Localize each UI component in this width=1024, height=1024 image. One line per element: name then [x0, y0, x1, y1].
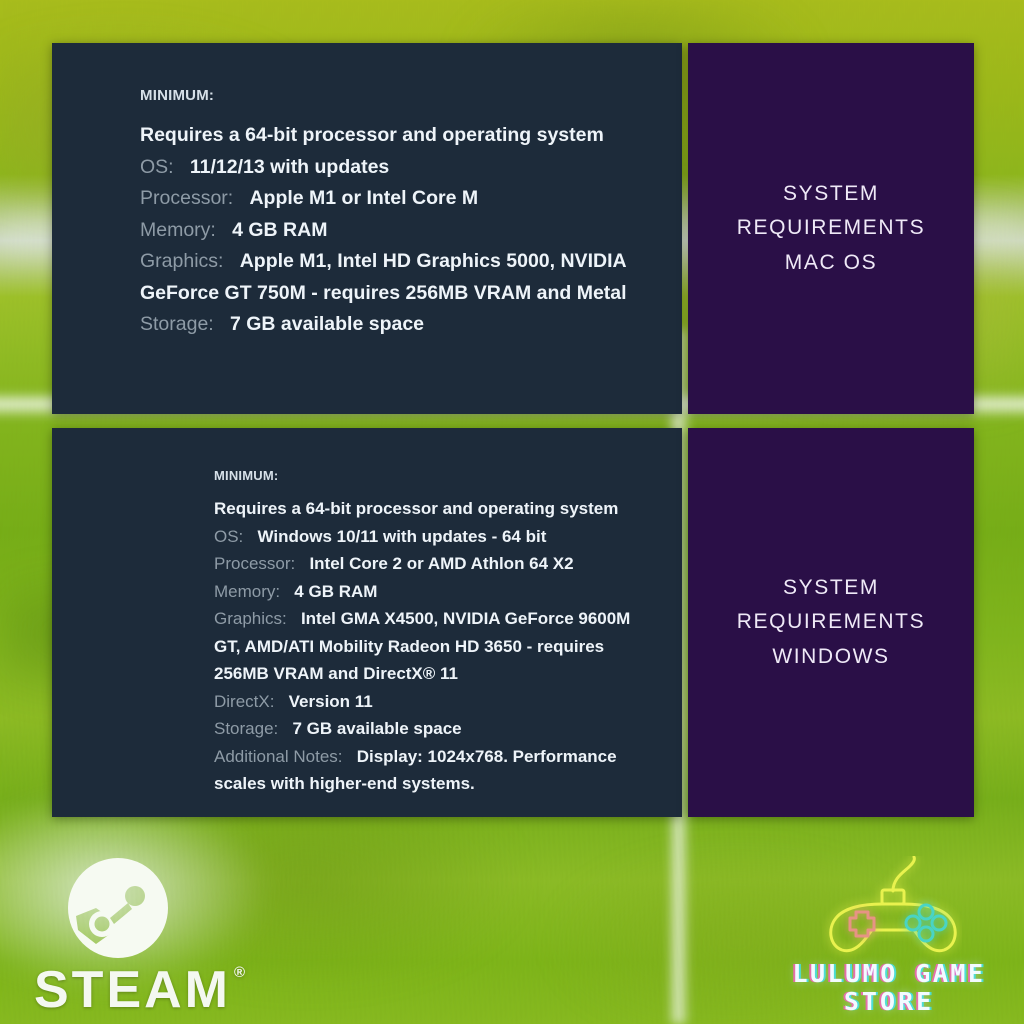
- windows-specs-heading: MINIMUM:: [214, 468, 658, 483]
- mac-spec-value-os: 11/12/13 with updates: [190, 156, 389, 178]
- windows-spec-label-os: OS:: [214, 527, 253, 546]
- mac-label-panel: SYSTEM REQUIREMENTS MAC OS: [688, 43, 974, 414]
- windows-spec-row-os: OS: Windows 10/11 with updates - 64 bit: [214, 523, 658, 551]
- windows-specs-panel: MINIMUM: Requires a 64-bit processor and…: [52, 428, 682, 817]
- mac-label-text: SYSTEM REQUIREMENTS MAC OS: [737, 177, 925, 279]
- windows-specs-intro-text: Requires a 64-bit processor and operatin…: [214, 499, 618, 518]
- steam-wordmark-text: STEAM: [34, 960, 231, 1020]
- windows-spec-row-memory: Memory: 4 GB RAM: [214, 578, 658, 606]
- mac-spec-row-processor: Processor: Apple M1 or Intel Core M: [140, 183, 658, 215]
- windows-spec-label-notes: Additional Notes:: [214, 747, 352, 766]
- lulumo-wordmark-line1: LULUMO GAME: [760, 960, 1018, 988]
- lulumo-logo: LULUMO GAME STORE: [760, 856, 1018, 1014]
- windows-spec-value-os: Windows 10/11 with updates - 64 bit: [257, 527, 546, 546]
- windows-label-line1: SYSTEM: [737, 571, 925, 605]
- mac-spec-row-os: OS: 11/12/13 with updates: [140, 152, 658, 184]
- steam-logo-icon: [66, 856, 170, 960]
- mac-spec-value-memory: 4 GB RAM: [232, 219, 327, 241]
- windows-spec-row-storage: Storage: 7 GB available space: [214, 715, 658, 743]
- windows-spec-row-directx: DirectX: Version 11: [214, 688, 658, 716]
- mac-label-line1: SYSTEM: [737, 177, 925, 211]
- mac-specs-intro: Requires a 64-bit processor and operatin…: [140, 120, 658, 152]
- windows-specs-body: MINIMUM: Requires a 64-bit processor and…: [76, 454, 658, 798]
- mac-spec-value-processor: Apple M1 or Intel Core M: [249, 187, 478, 209]
- windows-spec-label-processor: Processor:: [214, 554, 305, 573]
- windows-label-text: SYSTEM REQUIREMENTS WINDOWS: [737, 571, 925, 673]
- windows-spec-label-memory: Memory:: [214, 582, 290, 601]
- poster-canvas: MINIMUM: Requires a 64-bit processor and…: [0, 0, 1024, 1024]
- gamepad-icon: [822, 856, 962, 962]
- mac-spec-label-graphics: Graphics:: [140, 250, 234, 272]
- windows-spec-label-graphics: Graphics:: [214, 609, 296, 628]
- windows-spec-row-notes: Additional Notes: Display: 1024x768. Per…: [214, 743, 658, 798]
- mac-specs-panel: MINIMUM: Requires a 64-bit processor and…: [52, 43, 682, 414]
- windows-spec-row-processor: Processor: Intel Core 2 or AMD Athlon 64…: [214, 550, 658, 578]
- windows-spec-value-memory: 4 GB RAM: [294, 582, 377, 601]
- windows-spec-label-storage: Storage:: [214, 719, 288, 738]
- windows-label-line3: WINDOWS: [737, 640, 925, 674]
- mac-specs-body: MINIMUM: Requires a 64-bit processor and…: [76, 69, 658, 341]
- mac-spec-label-memory: Memory:: [140, 219, 227, 241]
- windows-spec-value-storage: 7 GB available space: [292, 719, 461, 738]
- windows-specs-intro: Requires a 64-bit processor and operatin…: [214, 495, 658, 523]
- steam-logo: STEAM ®: [34, 856, 234, 1012]
- windows-spec-row-graphics: Graphics: Intel GMA X4500, NVIDIA GeForc…: [214, 605, 658, 688]
- lulumo-wordmark-line2: STORE: [760, 988, 1018, 1016]
- mac-spec-row-graphics: Graphics: Apple M1, Intel HD Graphics 50…: [140, 246, 658, 309]
- mac-label-line3: MAC OS: [737, 246, 925, 280]
- mac-spec-value-storage: 7 GB available space: [230, 313, 424, 335]
- windows-spec-value-processor: Intel Core 2 or AMD Athlon 64 X2: [309, 554, 573, 573]
- lulumo-wordmark: LULUMO GAME STORE: [760, 960, 1018, 1016]
- mac-spec-label-os: OS:: [140, 156, 184, 178]
- mac-spec-label-processor: Processor:: [140, 187, 244, 209]
- steam-registered-mark: ®: [234, 964, 245, 981]
- windows-spec-label-directx: DirectX:: [214, 692, 284, 711]
- steam-wordmark: STEAM ®: [34, 960, 234, 1020]
- windows-label-panel: SYSTEM REQUIREMENTS WINDOWS: [688, 428, 974, 817]
- mac-spec-row-memory: Memory: 4 GB RAM: [140, 215, 658, 247]
- mac-spec-label-storage: Storage:: [140, 313, 225, 335]
- windows-label-line2: REQUIREMENTS: [737, 605, 925, 639]
- mac-label-line2: REQUIREMENTS: [737, 211, 925, 245]
- mac-specs-intro-text: Requires a 64-bit processor and operatin…: [140, 124, 604, 146]
- mac-specs-heading: MINIMUM:: [140, 87, 658, 104]
- windows-spec-value-directx: Version 11: [289, 692, 373, 711]
- mac-spec-row-storage: Storage: 7 GB available space: [140, 309, 658, 341]
